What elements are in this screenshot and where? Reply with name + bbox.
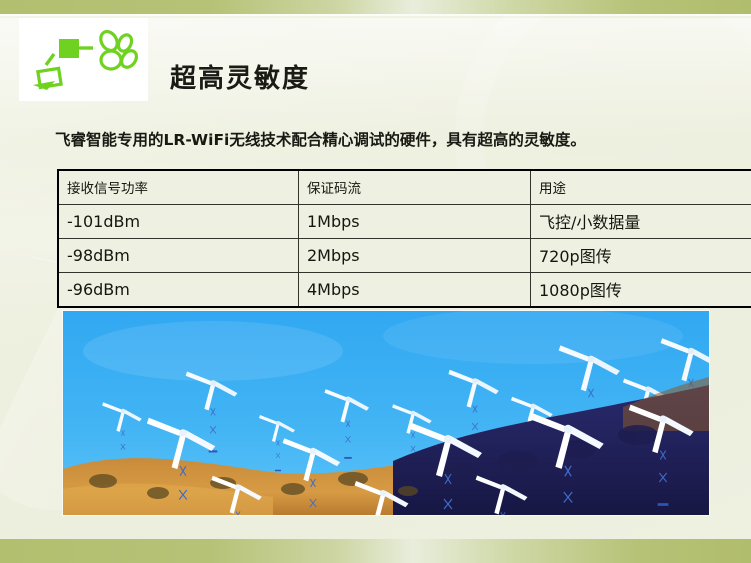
presentation-slide: 超高灵敏度 飞睿智能专用的LR-WiFi无线技术配合精心调试的硬件，具有超高的灵… [0, 0, 751, 563]
logo-box [19, 18, 148, 101]
sensitivity-spec-table: 接收信号功率 保证码流 用途 -101dBm 1Mbps 飞控/小数据量 -98… [57, 169, 751, 308]
table-header-cell: 接收信号功率 [58, 170, 299, 205]
page-title: 超高灵敏度 [170, 58, 310, 95]
bottom-accent-bar [0, 539, 751, 563]
table-cell-bitrate: 1Mbps [299, 205, 531, 239]
table-cell-usage: 1080p图传 [531, 273, 751, 308]
table-row: -96dBm 4Mbps 1080p图传 [58, 273, 751, 308]
wind-farm-photo [63, 311, 709, 515]
top-accent-bar [0, 0, 751, 14]
top-accent-bar-edge [0, 14, 751, 16]
lead-paragraph: 飞睿智能专用的LR-WiFi无线技术配合精心调试的硬件，具有超高的灵敏度。 [55, 128, 715, 150]
table-cell-usage: 720p图传 [531, 239, 751, 273]
table-header-cell: 用途 [531, 170, 751, 205]
table-cell-power: -98dBm [58, 239, 299, 273]
network-logo-icon [19, 18, 148, 101]
table-cell-bitrate: 2Mbps [299, 239, 531, 273]
table-cell-bitrate: 4Mbps [299, 273, 531, 308]
table-cell-power: -96dBm [58, 273, 299, 308]
table-cell-usage: 飞控/小数据量 [531, 205, 751, 239]
table-header-cell: 保证码流 [299, 170, 531, 205]
table-header-row: 接收信号功率 保证码流 用途 [58, 170, 751, 205]
table-cell-power: -101dBm [58, 205, 299, 239]
wind-farm-illustration [63, 311, 709, 515]
table-row: -98dBm 2Mbps 720p图传 [58, 239, 751, 273]
table-row: -101dBm 1Mbps 飞控/小数据量 [58, 205, 751, 239]
